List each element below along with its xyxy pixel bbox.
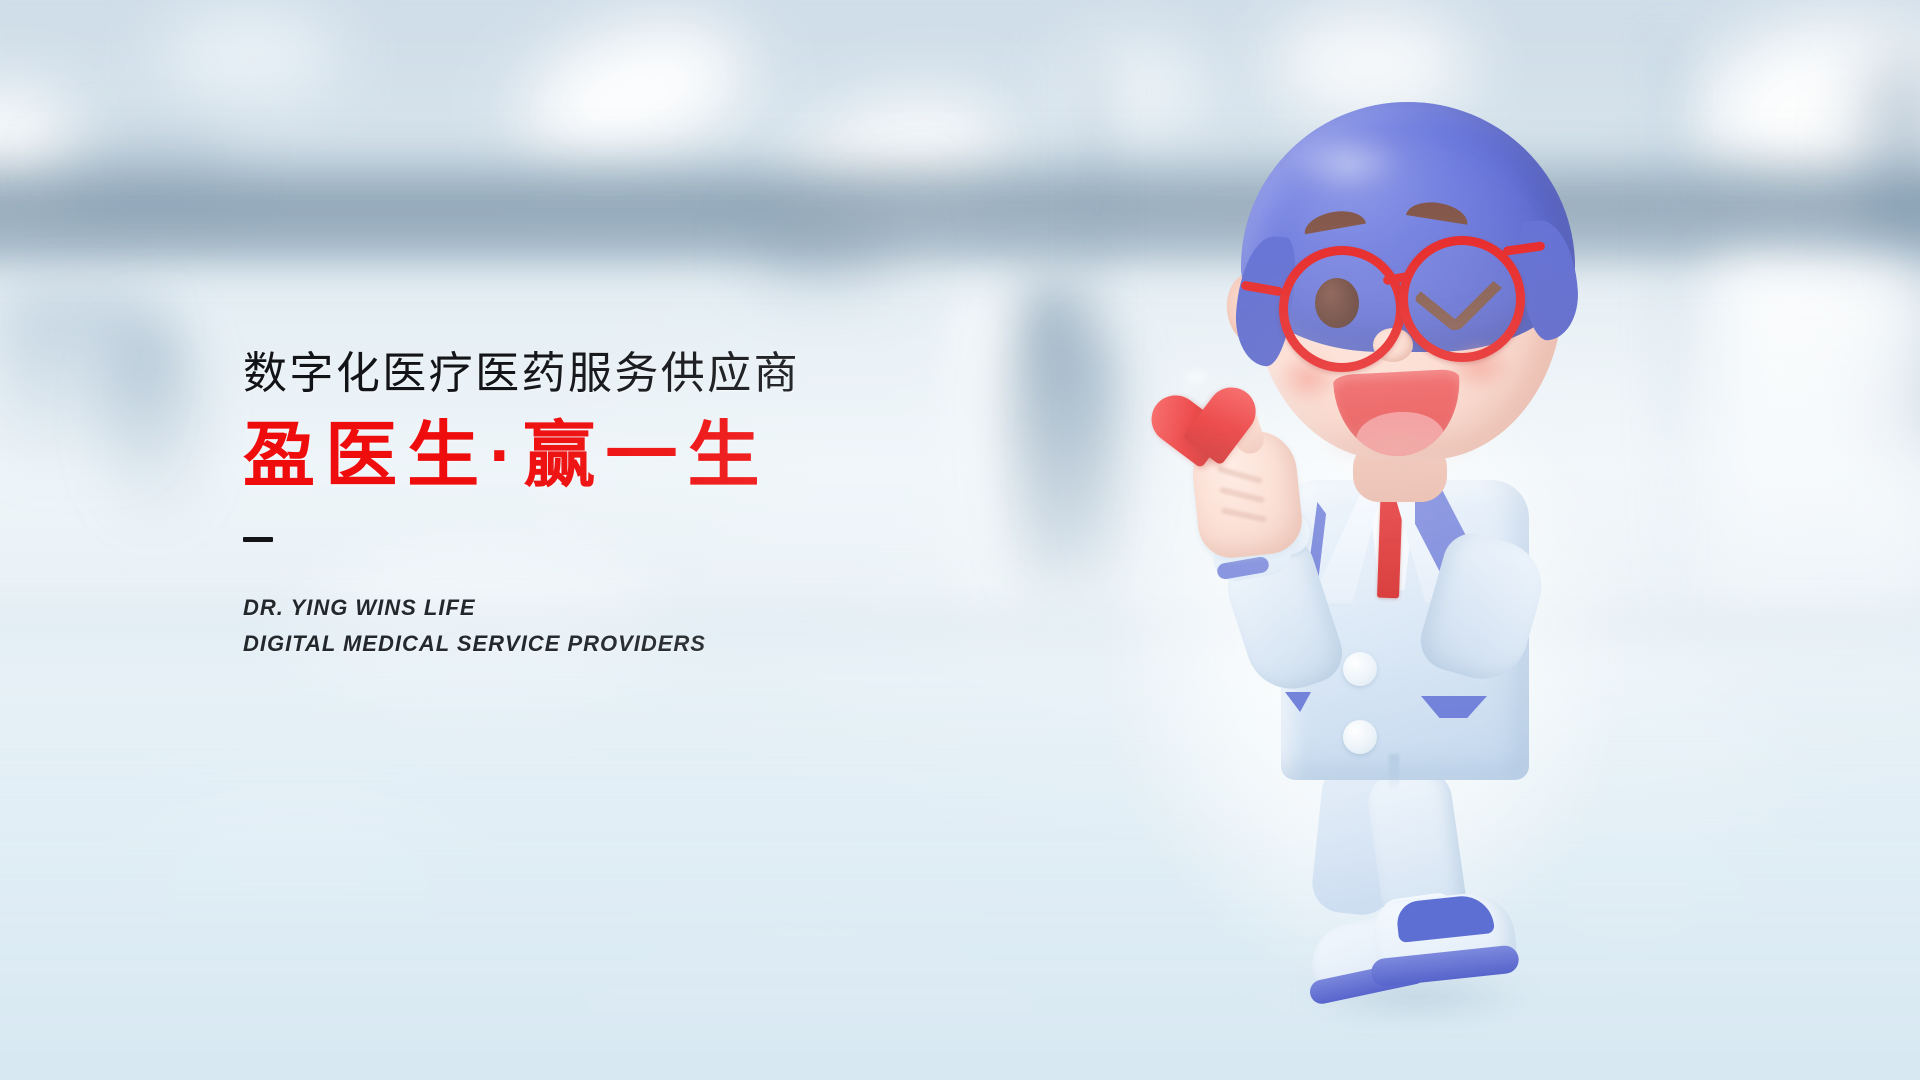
background-door-frame: [1660, 40, 1676, 660]
page-title: 盈医生·赢一生: [243, 420, 1063, 493]
mascot-coat-button: [1343, 720, 1377, 754]
title-divider: [243, 537, 273, 542]
heart-icon: [1172, 353, 1258, 439]
glasses-lens-left: [1279, 246, 1405, 372]
heart-highlight: [1185, 369, 1207, 386]
mascot-coat-button: [1343, 652, 1377, 686]
subtitle-line-1: DR. YING WINS LIFE: [243, 590, 1063, 626]
banner-subtitle: DR. YING WINS LIFE DIGITAL MEDICAL SERVI…: [243, 590, 1063, 661]
glasses-lens-right: [1399, 236, 1525, 362]
subtitle-line-2: DIGITAL MEDICAL SERVICE PROVIDERS: [243, 626, 1063, 662]
mascot-hair-highlight: [1285, 132, 1405, 192]
hero-banner: 数字化医疗医药服务供应商 盈医生·赢一生 DR. YING WINS LIFE …: [0, 0, 1920, 1080]
banner-kicker: 数字化医疗医药服务供应商: [243, 352, 1063, 396]
mascot-coat-split: [1389, 754, 1399, 790]
mascot-chin-shade: [1315, 422, 1485, 466]
background-person-silhouette: [1060, 330, 1130, 580]
background-equipment-silhouette: [0, 290, 150, 470]
banner-copy: 数字化医疗医药服务供应商 盈医生·赢一生 DR. YING WINS LIFE …: [243, 352, 1063, 662]
doctor-mascot: [1185, 40, 1655, 1050]
